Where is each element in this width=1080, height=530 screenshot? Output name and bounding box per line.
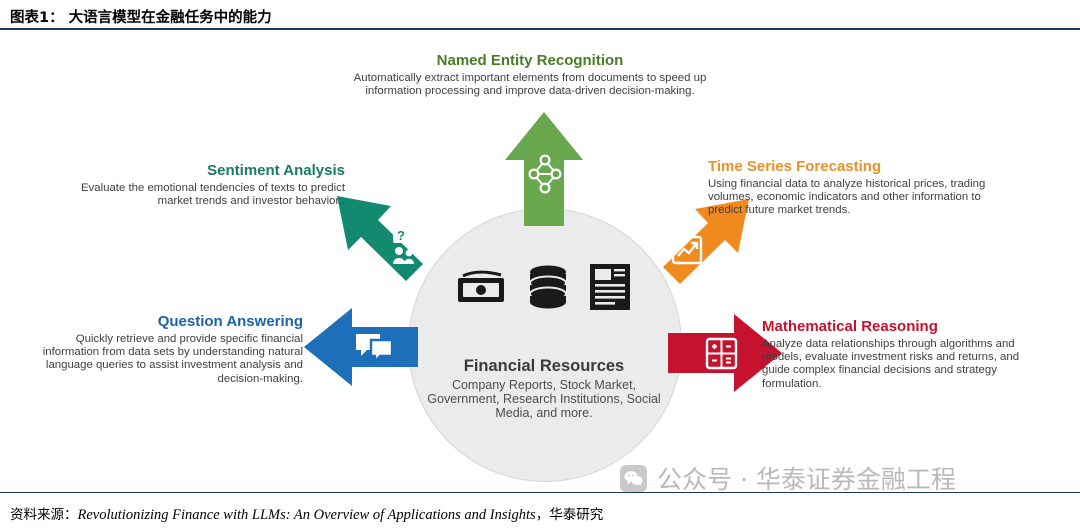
- arrow-layer: ?: [0, 30, 1080, 492]
- wechat-icon: [620, 465, 647, 492]
- body-sentiment-analysis: Evaluate the emotional tendencies of tex…: [45, 182, 345, 208]
- arrow-sentiment-analysis: [337, 196, 423, 281]
- heading-time-series-forecasting: Time Series Forecasting: [708, 158, 1018, 175]
- svg-text:?: ?: [397, 228, 405, 243]
- body-question-answering: Quickly retrieve and provide specific fi…: [35, 333, 303, 386]
- watermark-text: 公众号 · 华泰证券金融工程: [657, 460, 956, 496]
- body-mathematical-reasoning: Analyze data relationships through algor…: [762, 338, 1030, 391]
- source-footer: 资料来源：Revolutionizing Finance with LLMs: …: [0, 492, 1080, 530]
- heading-question-answering: Question Answering: [35, 313, 303, 330]
- source-line: 资料来源：Revolutionizing Finance with LLMs: …: [10, 503, 603, 524]
- label-question-answering: Question Answering Quickly retrieve and …: [35, 313, 303, 386]
- body-named-entity-recognition: Automatically extract important elements…: [330, 72, 730, 98]
- label-time-series-forecasting: Time Series Forecasting Using financial …: [708, 158, 1018, 218]
- label-mathematical-reasoning: Mathematical Reasoning Analyze data rela…: [762, 318, 1030, 391]
- page-title: 图表1： 大语言模型在金融任务中的能力: [10, 6, 272, 27]
- diagram-canvas: Financial Resources Company Reports, Sto…: [0, 30, 1080, 492]
- arrow-named-entity-recognition: [505, 112, 583, 226]
- watermark: 公众号 · 华泰证券金融工程: [620, 460, 956, 496]
- body-time-series-forecasting: Using financial data to analyze historic…: [708, 178, 1018, 218]
- heading-named-entity-recognition: Named Entity Recognition: [330, 52, 730, 69]
- source-suffix: ，华泰研究: [536, 507, 604, 523]
- label-named-entity-recognition: Named Entity Recognition Automatically e…: [330, 52, 730, 98]
- exhibit-number: 图表1：: [10, 10, 64, 26]
- source-label: 资料来源：: [10, 507, 78, 523]
- exhibit-header: 图表1： 大语言模型在金融任务中的能力: [0, 0, 1080, 30]
- source-title: Revolutionizing Finance with LLMs: An Ov…: [78, 507, 536, 523]
- exhibit-title: 大语言模型在金融任务中的能力: [69, 10, 272, 26]
- label-sentiment-analysis: Sentiment Analysis Evaluate the emotiona…: [45, 162, 345, 208]
- heading-mathematical-reasoning: Mathematical Reasoning: [762, 318, 1030, 335]
- heading-sentiment-analysis: Sentiment Analysis: [45, 162, 345, 179]
